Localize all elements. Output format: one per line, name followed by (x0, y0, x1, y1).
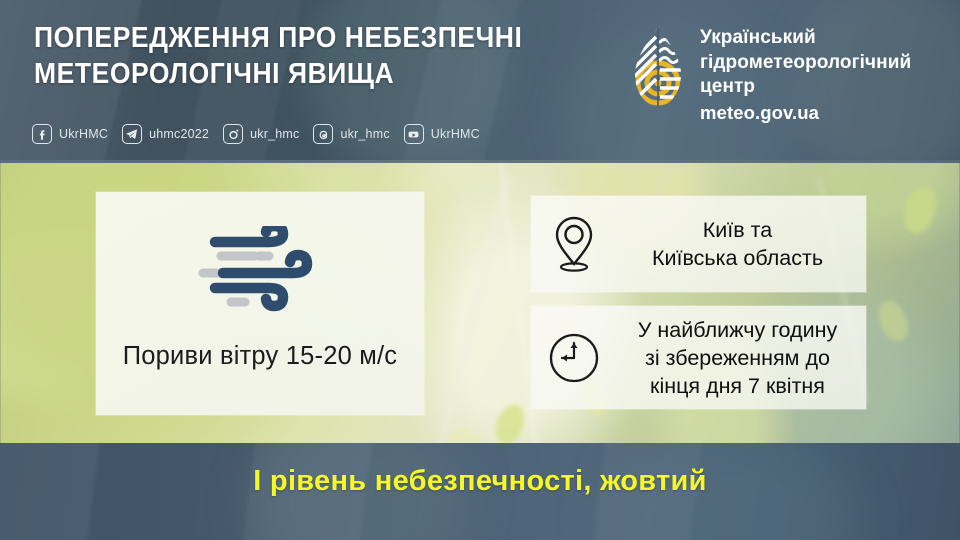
organization-name: Український гідрометеорологічний центр m… (700, 26, 911, 124)
region-card: Київ та Київська область (531, 196, 866, 292)
infographic-canvas: ПОПЕРЕДЖЕННЯ ПРО НЕБЕЗПЕЧНІ МЕТЕОРОЛОГІЧ… (0, 0, 960, 540)
organization-name-line-1: Український (700, 26, 911, 51)
water-droplet-logo-icon (632, 26, 684, 112)
time-text: У найближчу годину зі збереженням до кін… (617, 316, 866, 400)
page-title-line-2: МЕТЕОРОЛОГІЧНІ ЯВИЩА (34, 56, 573, 92)
clock-icon (531, 331, 617, 385)
time-card: У найближчу годину зі збереженням до кін… (531, 306, 866, 409)
social-link-youtube[interactable]: UkrHMC (404, 124, 480, 144)
danger-level-text: І рівень небезпечності, жовтий (0, 465, 960, 498)
organization-logo: Український гідрометеорологічний центр m… (632, 26, 911, 124)
social-handle: ukr_hmc (340, 127, 389, 141)
youtube-icon (404, 124, 424, 144)
page-title-line-1: ПОПЕРЕДЖЕННЯ ПРО НЕБЕЗПЕЧНІ (34, 20, 573, 56)
region-text-line-1: Київ та (617, 216, 858, 244)
social-handle: ukr_hmc (250, 127, 299, 141)
time-text-line-1: У найближчу годину (617, 316, 858, 344)
facebook-icon (32, 124, 52, 144)
warning-card: Пориви вітру 15-20 м/с (96, 192, 424, 415)
social-handle: UkrHMC (59, 127, 108, 141)
organization-name-line-2: гідрометеорологічний (700, 51, 911, 76)
organization-name-line-3: центр (700, 75, 911, 100)
social-link-threads[interactable]: ukr_hmc (313, 124, 389, 144)
social-links-row: UkrHMC uhmc2022 ukr_hmc (32, 124, 480, 144)
location-pin-icon (531, 215, 617, 273)
warning-text: Пориви вітру 15-20 м/с (123, 342, 398, 371)
social-handle: uhmc2022 (149, 127, 209, 141)
time-text-line-3: кінця дня 7 квітня (617, 372, 858, 400)
social-link-facebook[interactable]: UkrHMC (32, 124, 108, 144)
page-title: ПОПЕРЕДЖЕННЯ ПРО НЕБЕЗПЕЧНІ МЕТЕОРОЛОГІЧ… (34, 20, 573, 92)
social-link-telegram[interactable]: uhmc2022 (122, 124, 209, 144)
social-handle: UkrHMC (431, 127, 480, 141)
region-text: Київ та Київська область (617, 216, 866, 272)
social-link-instagram[interactable]: ukr_hmc (223, 124, 299, 144)
region-text-line-2: Київська область (617, 244, 858, 272)
instagram-icon (223, 124, 243, 144)
telegram-icon (122, 124, 142, 144)
wind-icon (193, 226, 327, 322)
threads-icon (313, 124, 333, 144)
time-text-line-2: зі збереженням до (617, 344, 858, 372)
header-banner: ПОПЕРЕДЖЕННЯ ПРО НЕБЕЗПЕЧНІ МЕТЕОРОЛОГІЧ… (0, 0, 960, 163)
footer-banner: І рівень небезпечності, жовтий (0, 443, 960, 540)
organization-website[interactable]: meteo.gov.ua (700, 102, 911, 124)
